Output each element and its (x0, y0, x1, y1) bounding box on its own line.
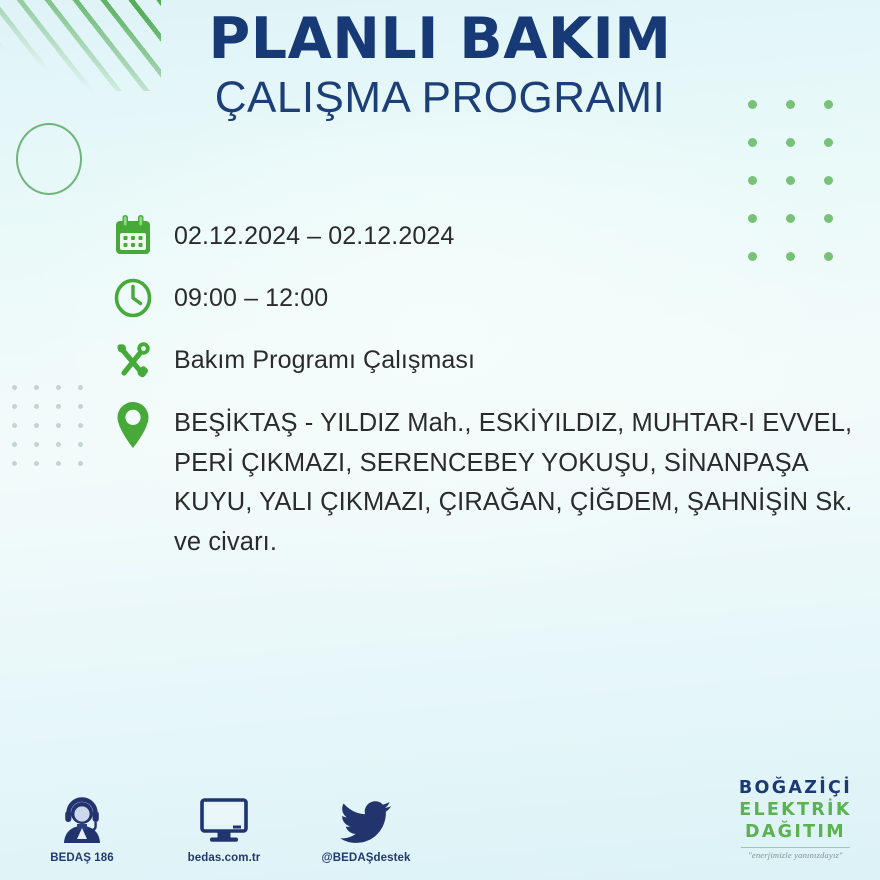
contact-twitter[interactable]: @BEDAŞdestek (318, 793, 414, 864)
contact-website[interactable]: bedas.com.tr (176, 793, 272, 864)
monitor-icon (176, 793, 272, 845)
time-range-value: 09:00 – 12:00 (174, 274, 328, 316)
contact-phone[interactable]: BEDAŞ 186 (34, 793, 130, 864)
maintenance-details: 02.12.2024 – 02.12.2024 09:00 – 12:00 (112, 212, 872, 578)
bedas-logo: BOĞAZİÇİ ELEKTRİK DAĞITIM "enerjimizle y… (739, 778, 852, 860)
logo-tagline: "enerjimizle yanınızdayız" (739, 850, 852, 860)
clock-icon (112, 274, 174, 320)
support-agent-icon (34, 793, 130, 845)
logo-divider (741, 847, 850, 849)
detail-row-date: 02.12.2024 – 02.12.2024 (112, 212, 872, 258)
address-value: BEŞİKTAŞ - YILDIZ Mah., ESKİYILDIZ, MUHT… (174, 398, 864, 562)
page-subtitle: ÇALIŞMA PROGRAMI (0, 73, 880, 122)
poster-canvas: PLANLI BAKIM ÇALIŞMA PROGRAMI (0, 0, 880, 880)
date-range-value: 02.12.2024 – 02.12.2024 (174, 212, 454, 254)
tools-icon (112, 336, 174, 382)
dot-grid-left-decoration (12, 385, 100, 480)
logo-line-bogazici: BOĞAZİÇİ (739, 778, 852, 800)
footer-contacts: BEDAŞ 186 bedas.com.tr @BEDAŞdestek (34, 793, 414, 864)
poster-header: PLANLI BAKIM ÇALIŞMA PROGRAMI (0, 10, 880, 123)
location-pin-icon (112, 398, 174, 452)
contact-twitter-label: @BEDAŞdestek (318, 852, 414, 864)
circle-outline-decoration (16, 123, 82, 195)
detail-row-address: BEŞİKTAŞ - YILDIZ Mah., ESKİYILDIZ, MUHT… (112, 398, 872, 562)
logo-line-dagitim: DAĞITIM (739, 822, 852, 844)
twitter-bird-icon (318, 793, 414, 845)
contact-phone-label: BEDAŞ 186 (34, 852, 130, 864)
calendar-icon (112, 212, 174, 258)
detail-row-time: 09:00 – 12:00 (112, 274, 872, 320)
logo-line-elektrik: ELEKTRİK (739, 800, 852, 822)
work-type-value: Bakım Programı Çalışması (174, 336, 475, 378)
page-title: PLANLI BAKIM (0, 10, 880, 69)
contact-website-label: bedas.com.tr (176, 852, 272, 864)
detail-row-work-type: Bakım Programı Çalışması (112, 336, 872, 382)
